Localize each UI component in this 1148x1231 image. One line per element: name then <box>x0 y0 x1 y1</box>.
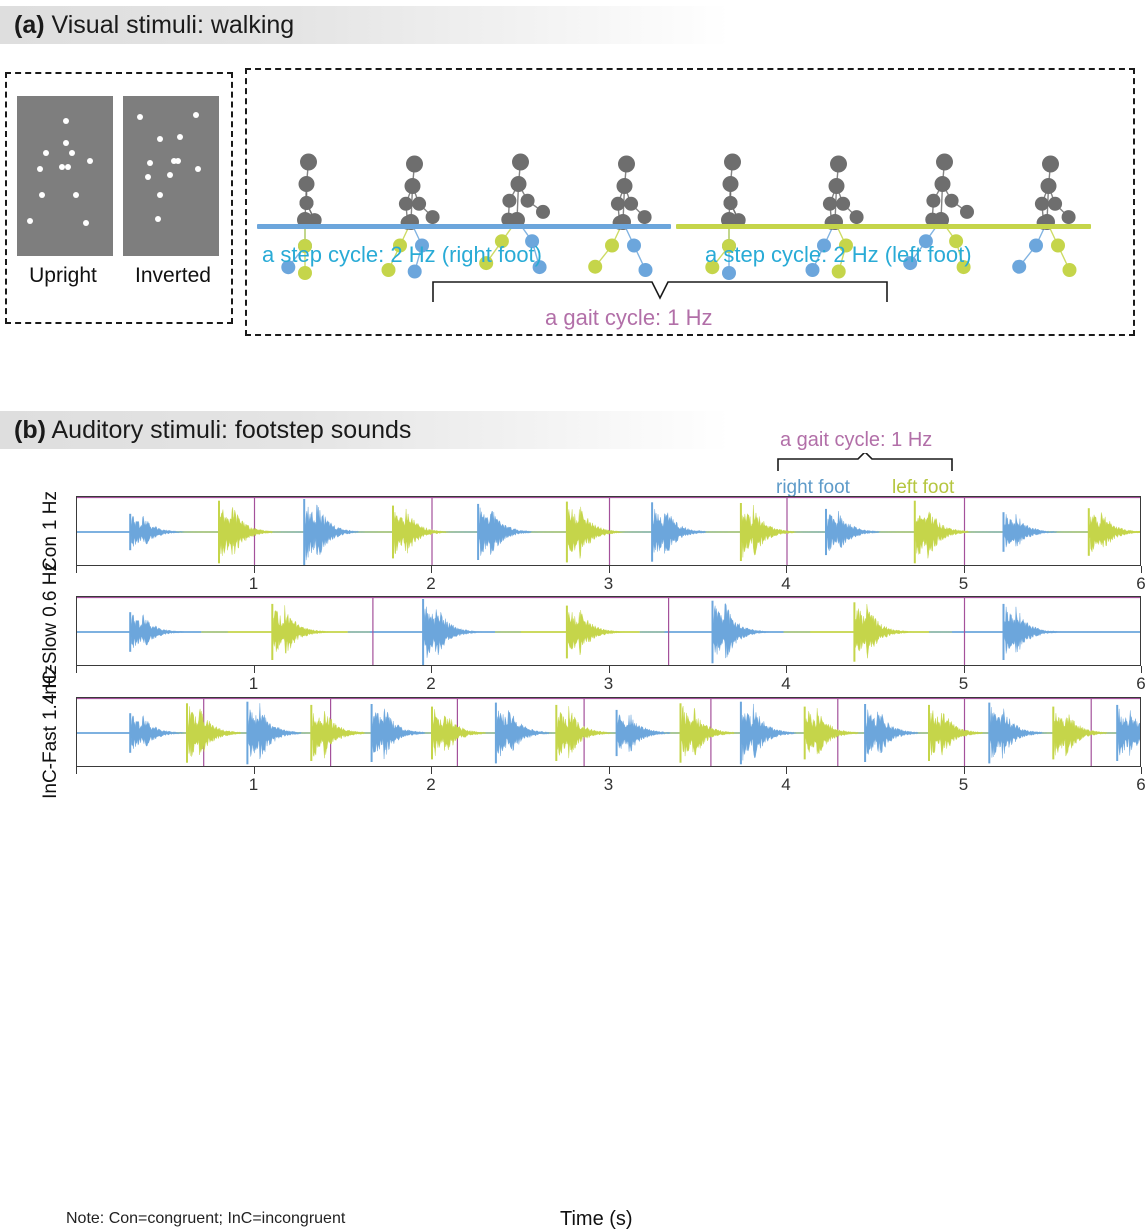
axis-tick-label: 5 <box>959 775 968 795</box>
point-light-dot <box>167 172 173 178</box>
footstep-waveform-right <box>423 607 521 658</box>
axis-tick <box>609 666 610 673</box>
gait-cycle-brace-b <box>776 453 956 473</box>
axis-tick <box>609 767 610 774</box>
axis-tick <box>786 767 787 774</box>
point-light-pair <box>17 96 219 256</box>
x-axis-con: 123456 <box>76 566 1141 592</box>
walker-joint-dot <box>502 194 516 208</box>
waveform-plot-con <box>76 496 1141 566</box>
row-label-condition: InC-Fast <box>40 726 62 799</box>
walker-joint-dot <box>723 176 739 192</box>
row-label-con: Con1 Hz <box>40 496 62 566</box>
x-axis-label: Time (s) <box>560 1208 633 1231</box>
axis-tick <box>964 566 965 573</box>
axis-tick <box>254 767 255 774</box>
row-label-inc-slow: InC-Slow0.6 Hz <box>40 596 62 666</box>
point-light-dot <box>83 220 89 226</box>
axis-tick-label: 3 <box>604 574 613 594</box>
gait-cycle-brace-a <box>430 278 890 306</box>
point-light-dot <box>147 160 153 166</box>
waveform-plot-inc-slow <box>76 596 1141 666</box>
axis-tick-label: 4 <box>781 775 790 795</box>
axis-tick <box>964 767 965 774</box>
gait-cycle-label-a: a gait cycle: 1 Hz <box>545 305 713 331</box>
x-axis-inc-fast: 123456 <box>76 767 1141 793</box>
footstep-waveform-right <box>1004 607 1102 654</box>
axis-tick-label: 1 <box>249 674 258 694</box>
panel-b-content: a gait cycle: 1 Hz right foot left foot … <box>0 420 1148 828</box>
walker-joint-dot <box>936 154 953 171</box>
point-light-dot <box>63 118 69 124</box>
point-light-dot <box>155 216 161 222</box>
walker-joint-dot <box>1062 210 1076 224</box>
panel-a-header: (a) Visual stimuli: walking <box>0 6 730 44</box>
axis-tick <box>786 666 787 673</box>
axis-tick <box>964 666 965 673</box>
gait-cycle-label-b: a gait cycle: 1 Hz <box>780 429 932 452</box>
axis-tick-label: 5 <box>959 574 968 594</box>
point-light-dot <box>39 192 45 198</box>
step-cycle-bar-right <box>257 224 671 229</box>
waveform-plot-inc-fast <box>76 697 1141 767</box>
step-cycle-label-right: a step cycle: 2 Hz (right foot) <box>262 242 542 268</box>
waveform-svg <box>77 698 1141 767</box>
point-light-dot <box>193 112 199 118</box>
axis-tick <box>431 666 432 673</box>
point-light-dot <box>157 192 163 198</box>
walker-joint-dot <box>1012 260 1026 274</box>
point-light-inverted <box>123 96 219 256</box>
walker-joint-dot <box>960 205 974 219</box>
axis-tick <box>254 566 255 573</box>
walker-joint-dot <box>724 196 738 210</box>
axis-tick <box>431 566 432 573</box>
footstep-waveform-right <box>1117 709 1141 756</box>
walker-joint-dot <box>1041 178 1057 194</box>
walker-joint-dot <box>1063 263 1077 277</box>
panel-a-tag: (a) <box>14 11 45 39</box>
footstep-waveform-left <box>272 605 370 653</box>
axis-tick-label: 6 <box>1136 674 1145 694</box>
axis-tick-label: 1 <box>249 775 258 795</box>
row-label-inc-fast: InC-Fast1.4 Hz <box>40 697 62 767</box>
point-light-dot <box>37 166 43 172</box>
step-cycle-label-left: a step cycle: 2 Hz (left foot) <box>705 242 972 268</box>
point-light-dot <box>157 136 163 142</box>
walker-joint-dot <box>605 239 619 253</box>
walker-joint-dot <box>300 154 317 171</box>
footstep-waveform-right <box>1004 514 1102 547</box>
walker-joint-dot <box>617 178 633 194</box>
walker-joint-dot <box>406 156 423 173</box>
axis-tick-label: 2 <box>426 574 435 594</box>
walker-joint-dot <box>830 156 847 173</box>
point-light-dot <box>175 158 181 164</box>
walker-joint-dot <box>512 154 529 171</box>
point-light-dot <box>73 192 79 198</box>
walker-joint-dot <box>926 194 940 208</box>
footstep-waveform-right <box>826 511 924 551</box>
walker-joint-dot <box>627 239 641 253</box>
axis-tick <box>431 767 432 774</box>
footstep-waveform-left <box>1089 512 1141 551</box>
walker-joint-dot <box>638 210 652 224</box>
waveform-svg <box>77 497 1141 566</box>
axis-tick <box>76 767 77 774</box>
label-upright: Upright <box>13 264 113 288</box>
axis-tick <box>1141 767 1142 774</box>
walker-joint-dot <box>399 197 413 211</box>
point-light-dot <box>69 150 75 156</box>
axis-tick-label: 6 <box>1136 574 1145 594</box>
walker-joint-dot <box>1029 239 1043 253</box>
point-light-dot <box>27 218 33 224</box>
walker-joint-dot <box>1048 197 1062 211</box>
walker-joint-dot <box>588 260 602 274</box>
walker-joint-dot <box>829 178 845 194</box>
walker-figure <box>588 156 652 278</box>
walker-joint-dot <box>945 194 959 208</box>
walker-joint-dot <box>611 197 625 211</box>
axis-tick-label: 2 <box>426 775 435 795</box>
axis-tick-label: 3 <box>604 775 613 795</box>
step-cycle-bar-left <box>676 224 1091 229</box>
point-light-dot <box>137 114 143 120</box>
walker-joint-dot <box>624 197 638 211</box>
walker-joint-dot <box>836 197 850 211</box>
point-light-dot <box>177 134 183 140</box>
axis-tick-label: 1 <box>249 574 258 594</box>
label-inverted: Inverted <box>123 264 223 288</box>
axis-tick <box>76 566 77 573</box>
walker-joint-dot <box>1035 197 1049 211</box>
row-label-frequency: 0.6 Hz <box>40 562 62 617</box>
footstep-waveform-left <box>915 512 1013 559</box>
walker-joint-dot <box>1042 156 1059 173</box>
point-light-labels: Upright Inverted <box>13 264 229 288</box>
walker-joint-dot <box>521 194 535 208</box>
footstep-waveform-right <box>713 604 811 658</box>
x-axis-inc-slow: 123456 <box>76 666 1141 692</box>
walker-figure <box>1012 156 1076 278</box>
walker-joint-dot <box>412 197 426 211</box>
panel-a-title: (a) Visual stimuli: walking <box>0 11 294 40</box>
axis-tick <box>1141 666 1142 673</box>
axis-tick <box>786 566 787 573</box>
point-light-dot <box>63 140 69 146</box>
walker-joint-dot <box>298 266 312 280</box>
walker-joint-dot <box>724 154 741 171</box>
axis-tick-label: 4 <box>781 674 790 694</box>
point-light-dot <box>195 166 201 172</box>
axis-tick-label: 5 <box>959 674 968 694</box>
walker-joint-dot <box>426 210 440 224</box>
walker-joint-dot <box>299 176 315 192</box>
walker-joint-dot <box>823 197 837 211</box>
axis-tick-label: 4 <box>781 574 790 594</box>
walker-joint-dot <box>850 210 864 224</box>
point-light-dot <box>145 174 151 180</box>
point-light-upright <box>17 96 113 256</box>
point-light-dot <box>43 150 49 156</box>
row-label-frequency: 1 Hz <box>40 491 62 530</box>
walker-joint-dot <box>405 178 421 194</box>
walker-joint-dot <box>511 176 527 192</box>
walker-joint-dot <box>639 263 653 277</box>
axis-tick-label: 2 <box>426 674 435 694</box>
axis-tick <box>1141 566 1142 573</box>
point-light-dot <box>65 164 71 170</box>
panel-a-title-text: Visual stimuli: walking <box>52 11 295 39</box>
row-label-frequency: 1.4 Hz <box>40 665 62 720</box>
point-light-display-box: Upright Inverted <box>5 72 233 324</box>
figure-note: Note: Con=congruent; InC=incongruent <box>66 1210 345 1228</box>
waveform-svg <box>77 597 1141 666</box>
axis-tick-label: 3 <box>604 674 613 694</box>
axis-tick-label: 6 <box>1136 775 1145 795</box>
walker-joint-dot <box>935 176 951 192</box>
walker-joint-dot <box>300 196 314 210</box>
walker-joint-dot <box>536 205 550 219</box>
walker-joint-dot <box>1051 239 1065 253</box>
axis-tick <box>254 666 255 673</box>
axis-tick <box>609 566 610 573</box>
walker-joint-dot <box>618 156 635 173</box>
point-light-dot <box>87 158 93 164</box>
axis-tick <box>76 666 77 673</box>
